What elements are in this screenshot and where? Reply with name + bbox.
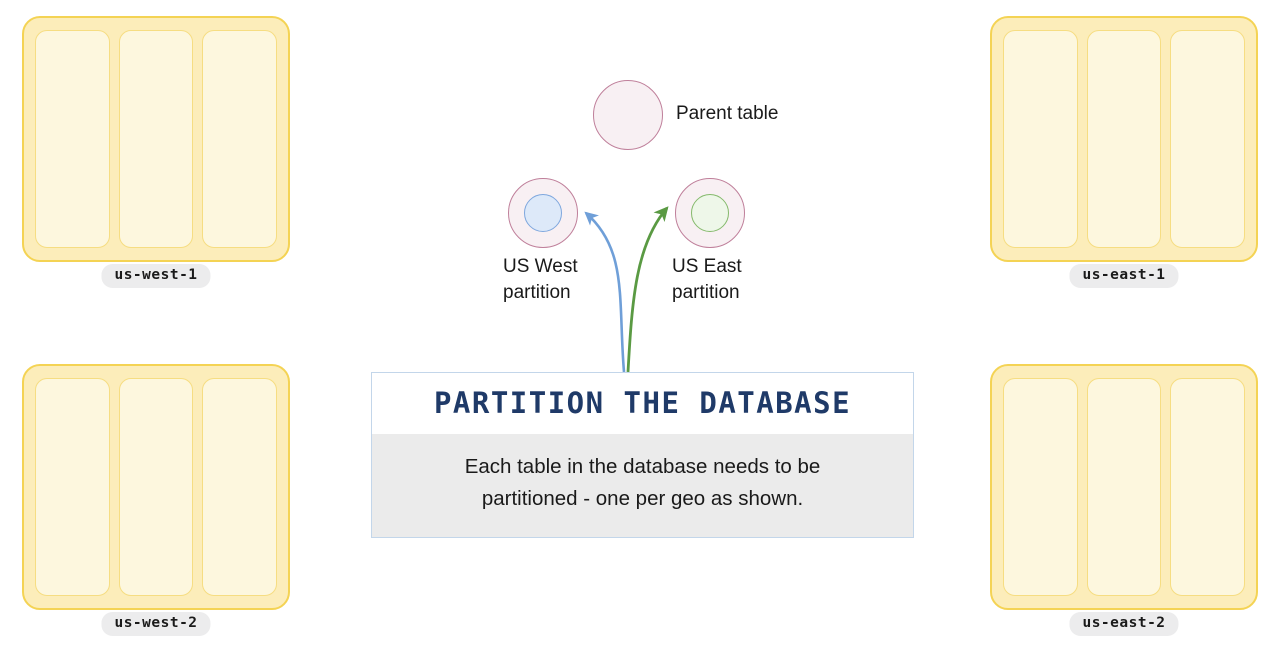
region-rack <box>1003 30 1078 248</box>
region-rack <box>1170 378 1245 596</box>
region-rack <box>1087 378 1162 596</box>
parent-table-label: Parent table <box>676 101 778 127</box>
region-box-us-east-2[interactable]: us-east-2 <box>990 364 1258 610</box>
us-west-partition-circle[interactable] <box>508 178 578 248</box>
region-label-us-east-1: us-east-1 <box>1069 264 1178 288</box>
callout-title: PARTITION THE DATABASE <box>372 373 913 434</box>
region-label-us-west-2: us-west-2 <box>101 612 210 636</box>
us-east-partition-inner-circle <box>691 194 729 232</box>
region-box-us-west-2[interactable]: us-west-2 <box>22 364 290 610</box>
us-east-partition-label: US East partition <box>672 254 742 306</box>
region-label-us-east-2: us-east-2 <box>1069 612 1178 636</box>
region-rack <box>1087 30 1162 248</box>
arrow-to-us-east-partition <box>628 208 667 372</box>
us-east-partition-circle[interactable] <box>675 178 745 248</box>
region-rack <box>119 378 194 596</box>
region-box-us-west-1[interactable]: us-west-1 <box>22 16 290 262</box>
diagram-canvas: us-west-1 us-west-2 us-east-1 us-east-2 <box>0 0 1280 648</box>
region-rack <box>202 30 277 248</box>
us-west-partition-inner-circle <box>524 194 562 232</box>
region-box-us-east-1[interactable]: us-east-1 <box>990 16 1258 262</box>
callout-body: Each table in the database needs to be p… <box>372 434 913 537</box>
region-rack <box>1170 30 1245 248</box>
region-rack <box>119 30 194 248</box>
region-rack <box>35 30 110 248</box>
us-west-partition-label: US West partition <box>503 254 578 306</box>
callout-box: PARTITION THE DATABASE Each table in the… <box>371 372 914 538</box>
region-rack <box>202 378 277 596</box>
parent-table-circle[interactable] <box>593 80 663 150</box>
arrow-to-us-west-partition <box>586 213 624 372</box>
region-rack <box>1003 378 1078 596</box>
region-label-us-west-1: us-west-1 <box>101 264 210 288</box>
region-rack <box>35 378 110 596</box>
